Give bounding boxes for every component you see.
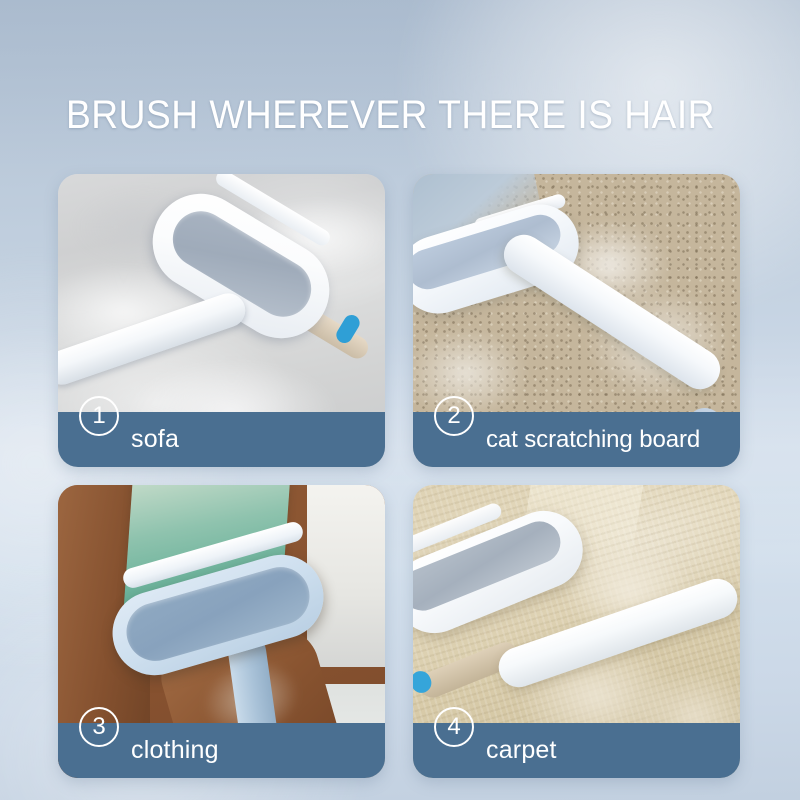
feature-card-sofa[interactable]: sofa 1	[58, 174, 385, 467]
product-feature-banner: BRUSH WHEREVER THERE IS HAIR sofa 1	[0, 0, 800, 800]
card-label: cat scratching board	[486, 426, 700, 454]
card-number-badge: 3	[79, 707, 119, 747]
card-label: clothing	[131, 736, 219, 765]
card-number-badge: 4	[434, 707, 474, 747]
feature-card-clothing[interactable]: clothing 3	[58, 485, 385, 778]
card-label: sofa	[131, 425, 179, 454]
card-number-badge: 2	[434, 396, 474, 436]
feature-card-cat-scratching-board[interactable]: cat scratching board 2	[413, 174, 740, 467]
feature-card-carpet[interactable]: carpet 4	[413, 485, 740, 778]
card-number-badge: 1	[79, 396, 119, 436]
page-title: BRUSH WHEREVER THERE IS HAIR	[66, 93, 715, 137]
feature-card-grid: sofa 1 cat scratching board 2	[58, 174, 740, 778]
card-label: carpet	[486, 736, 557, 765]
